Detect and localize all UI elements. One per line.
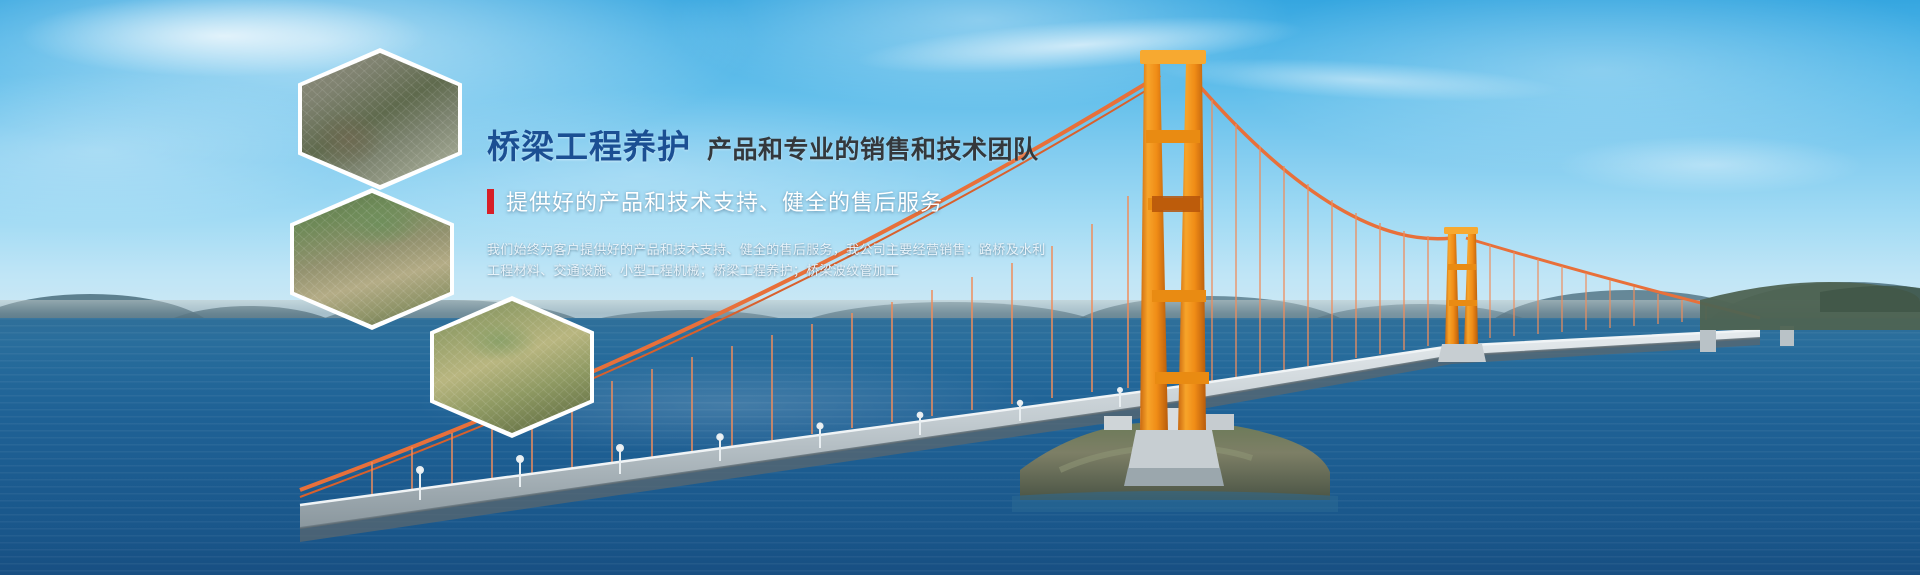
suspension-bridge (0, 0, 1920, 575)
hero-banner: 桥梁工程养护 产品和专业的销售和技术团队 提供好的产品和技术支持、健全的售后服务… (0, 0, 1920, 575)
paragraph-line-1: 我们始终为客户提供好的产品和技术支持、健全的售后服务，我公司主要经营销售：路桥及… (487, 239, 1087, 260)
accent-bar-icon (487, 189, 494, 214)
headline-row: 桥梁工程养护 产品和专业的销售和技术团队 (487, 120, 1107, 168)
subtitle-row: 提供好的产品和技术支持、健全的售后服务 (487, 185, 1107, 217)
banner-paragraph: 我们始终为客户提供好的产品和技术支持、健全的售后服务，我公司主要经营销售：路桥及… (487, 239, 1087, 281)
headline-sub: 产品和专业的销售和技术团队 (707, 130, 1039, 166)
paragraph-line-2: 工程材料、交通设施、小型工程机械；桥梁工程养护；桥梁波纹管加工 (487, 260, 1087, 281)
banner-text-block: 桥梁工程养护 产品和专业的销售和技术团队 提供好的产品和技术支持、健全的售后服务… (487, 120, 1107, 281)
subtitle-text: 提供好的产品和技术支持、健全的售后服务 (506, 185, 943, 217)
headline-main: 桥梁工程养护 (487, 120, 691, 168)
